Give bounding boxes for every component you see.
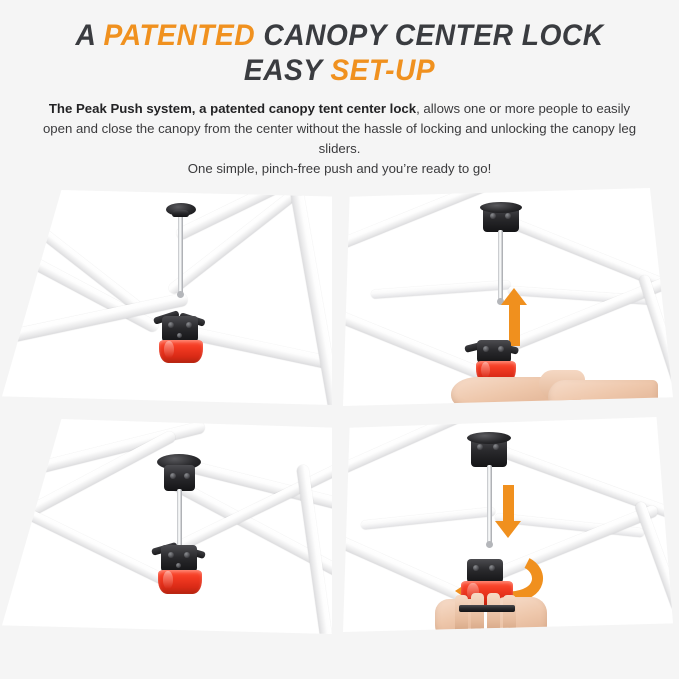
arrow-down-shaft: [503, 485, 514, 523]
title-highlight-setup: SET-UP: [330, 54, 435, 87]
hub-bracket: [467, 559, 503, 583]
panel-top-left: [2, 190, 332, 405]
grip-finger: [455, 595, 468, 632]
pole-top-cap-body: [172, 210, 189, 217]
description-bold-lead: The Peak Push system, a patented canopy …: [49, 101, 416, 116]
frame-tube: [343, 188, 497, 257]
grip-finger: [503, 595, 516, 632]
title-highlight-patented: PATENTED: [104, 19, 256, 52]
pole-top-cap-icon: [480, 202, 522, 213]
frame-tube: [371, 280, 511, 299]
hand-wrist: [548, 380, 658, 406]
description-paragraph: The Peak Push system, a patented canopy …: [40, 99, 640, 179]
arrow-up-shaft: [509, 304, 520, 346]
hub-bolt: [168, 552, 174, 558]
hub-bolt: [184, 552, 190, 558]
red-center-lock-hub: [158, 570, 202, 594]
panel-top-right: [343, 188, 673, 406]
hub-bolt: [473, 565, 479, 571]
pole-tip: [486, 541, 493, 548]
hub-bolt: [493, 444, 499, 450]
hub-bolt: [170, 473, 176, 479]
hub-bolt: [184, 473, 190, 479]
hub-bolt: [505, 213, 511, 219]
center-pole: [178, 212, 183, 294]
description-line-2: One simple, pinch-free push and you’re r…: [188, 161, 492, 176]
hub-underside: [459, 605, 515, 612]
red-center-lock-hub: [159, 340, 203, 363]
hub-bolt: [186, 322, 192, 328]
header: A PATENTED CANOPY CENTER LOCK EASY SET-U…: [0, 0, 679, 179]
hub-bolt: [177, 333, 182, 338]
hub-bolt: [176, 563, 181, 568]
title-post: CANOPY CENTER LOCK: [255, 19, 603, 52]
hub-bolt: [483, 346, 489, 352]
arrow-down-head: [495, 521, 521, 538]
title-line-2: EASY SET-UP: [20, 53, 658, 88]
grip-finger: [471, 593, 484, 632]
hub-bolt: [477, 444, 483, 450]
center-pole: [487, 465, 492, 543]
pole-tip: [177, 291, 184, 298]
title-line2-pre: EASY: [244, 54, 330, 87]
panel-bottom-right: [343, 417, 673, 632]
title-line-1: A PATENTED CANOPY CENTER LOCK: [75, 19, 603, 52]
center-pole: [177, 489, 182, 547]
hub-bracket: [162, 316, 198, 342]
hub-bolt: [168, 322, 174, 328]
arrow-up-head: [501, 288, 527, 305]
pole-top-cap-icon: [467, 432, 511, 444]
frame-tube: [361, 507, 496, 530]
frame-tube: [288, 190, 332, 405]
image-panel-grid: [0, 180, 679, 640]
frame-tube: [2, 190, 143, 313]
page-title: A PATENTED CANOPY CENTER LOCK EASY SET-U…: [20, 18, 658, 88]
hub-bracket: [477, 340, 511, 363]
frame-tube: [2, 429, 177, 550]
hub-bolt: [490, 213, 496, 219]
frame-tube: [343, 417, 479, 484]
hub-bolt: [489, 565, 495, 571]
grip-finger: [487, 593, 500, 632]
title-pre: A: [75, 19, 103, 52]
panel-bottom-left: [2, 419, 332, 634]
pole-top-cap-body: [164, 465, 195, 491]
hub-bolt: [498, 346, 504, 352]
frame-tube: [343, 441, 344, 535]
